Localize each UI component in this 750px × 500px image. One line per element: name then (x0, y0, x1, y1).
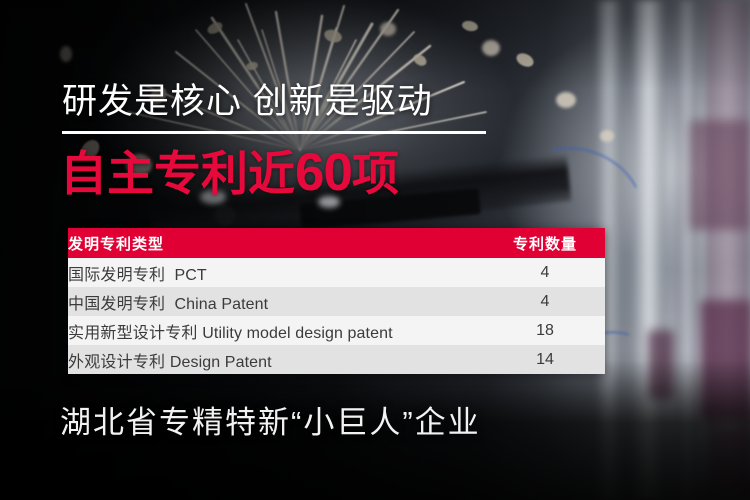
table-row: 外观设计专利 Design Patent 14 (68, 345, 605, 374)
table-header-row: 发明专利类型 专利数量 (68, 228, 605, 258)
table-row: 实用新型设计专利 Utility model design patent 18 (68, 316, 605, 345)
headline-primary: 研发是核心 创新是驱动 (62, 80, 433, 124)
patent-type-cn: 实用新型设计专利 (68, 325, 198, 342)
cell-patent-count: 4 (485, 258, 605, 287)
cell-patent-type: 实用新型设计专利 Utility model design patent (68, 316, 485, 345)
patent-type-cn: 外观设计专利 (68, 354, 165, 371)
headline-divider (62, 131, 486, 134)
poster-content: 研发是核心 创新是驱动 自主专利近60项 发明专利类型 专利数量 国际发明专利 … (0, 0, 750, 500)
cell-patent-type: 中国发明专利 China Patent (68, 287, 485, 316)
cell-patent-count: 18 (485, 316, 605, 345)
patent-type-en: Utility model design patent (202, 325, 392, 342)
table-row: 中国发明专利 China Patent 4 (68, 287, 605, 316)
patent-table: 发明专利类型 专利数量 国际发明专利 PCT 4 中国发明专利 China Pa… (68, 228, 605, 374)
footer-caption: 湖北省专精特新“小巨人”企业 (60, 402, 481, 444)
column-header-type: 发明专利类型 (68, 228, 485, 258)
patent-type-en: PCT (175, 267, 207, 284)
headline-red-prefix: 自主专利近 (60, 147, 295, 200)
column-header-count: 专利数量 (485, 228, 605, 258)
table-row: 国际发明专利 PCT 4 (68, 258, 605, 287)
patent-poster: 研发是核心 创新是驱动 自主专利近60项 发明专利类型 专利数量 国际发明专利 … (0, 0, 750, 500)
cell-patent-type: 外观设计专利 Design Patent (68, 345, 485, 374)
headline-red-suffix: 项 (352, 147, 399, 200)
patent-type-en: China Patent (175, 296, 269, 313)
headline-secondary: 自主专利近60项 (60, 144, 399, 203)
patent-type-cn: 中国发明专利 (68, 296, 165, 313)
patent-type-en: Design Patent (170, 354, 272, 371)
patent-type-cn: 国际发明专利 (68, 267, 165, 284)
headline-red-number: 60 (295, 143, 352, 202)
cell-patent-type: 国际发明专利 PCT (68, 258, 485, 287)
cell-patent-count: 14 (485, 345, 605, 374)
cell-patent-count: 4 (485, 287, 605, 316)
table-header: 发明专利类型 专利数量 (68, 228, 605, 258)
table-body: 国际发明专利 PCT 4 中国发明专利 China Patent 4 实用新型设… (68, 258, 605, 374)
